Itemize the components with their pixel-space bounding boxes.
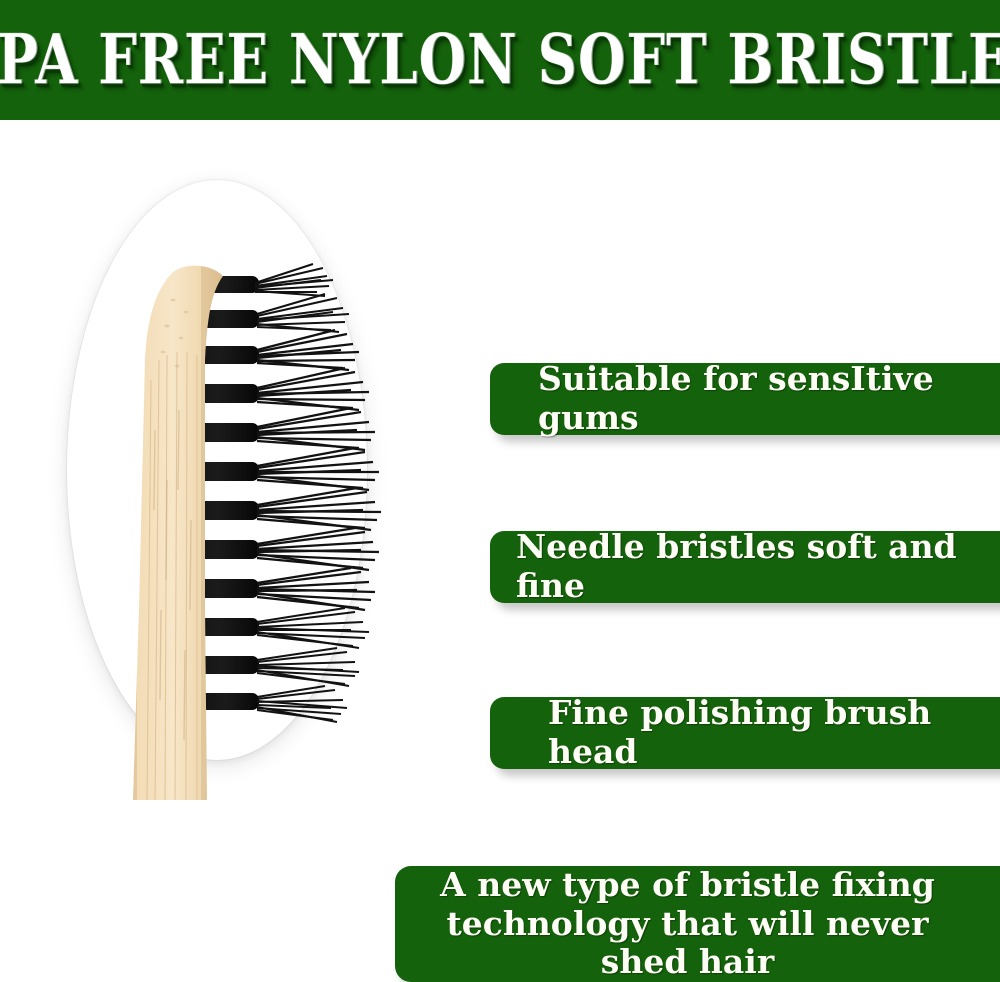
- feature-label: Suitable for sensItive gums: [538, 360, 1000, 438]
- product-figure: [55, 180, 395, 780]
- content-area: Suitable for sensItive gums Needle brist…: [0, 120, 1000, 899]
- feature-callout-sensitive-gums[interactable]: Suitable for sensItive gums: [490, 363, 1000, 435]
- feature-label: A new type of bristle fixing technology …: [415, 866, 960, 982]
- feature-label: Fine polishing brush head: [548, 694, 1000, 772]
- toothbrush-image: [55, 180, 395, 800]
- page-title: BPA FREE NYLON SOFT BRISTLES: [0, 25, 1000, 94]
- feature-callout-polishing-head[interactable]: Fine polishing brush head: [490, 697, 1000, 769]
- feature-label: Needle bristles soft and fine: [516, 528, 1000, 606]
- bamboo-handle: [115, 250, 235, 800]
- feature-callout-bristle-fixing[interactable]: A new type of bristle fixing technology …: [395, 866, 1000, 982]
- header-banner: BPA FREE NYLON SOFT BRISTLES: [0, 0, 1000, 120]
- feature-callout-needle-bristles[interactable]: Needle bristles soft and fine: [490, 531, 1000, 603]
